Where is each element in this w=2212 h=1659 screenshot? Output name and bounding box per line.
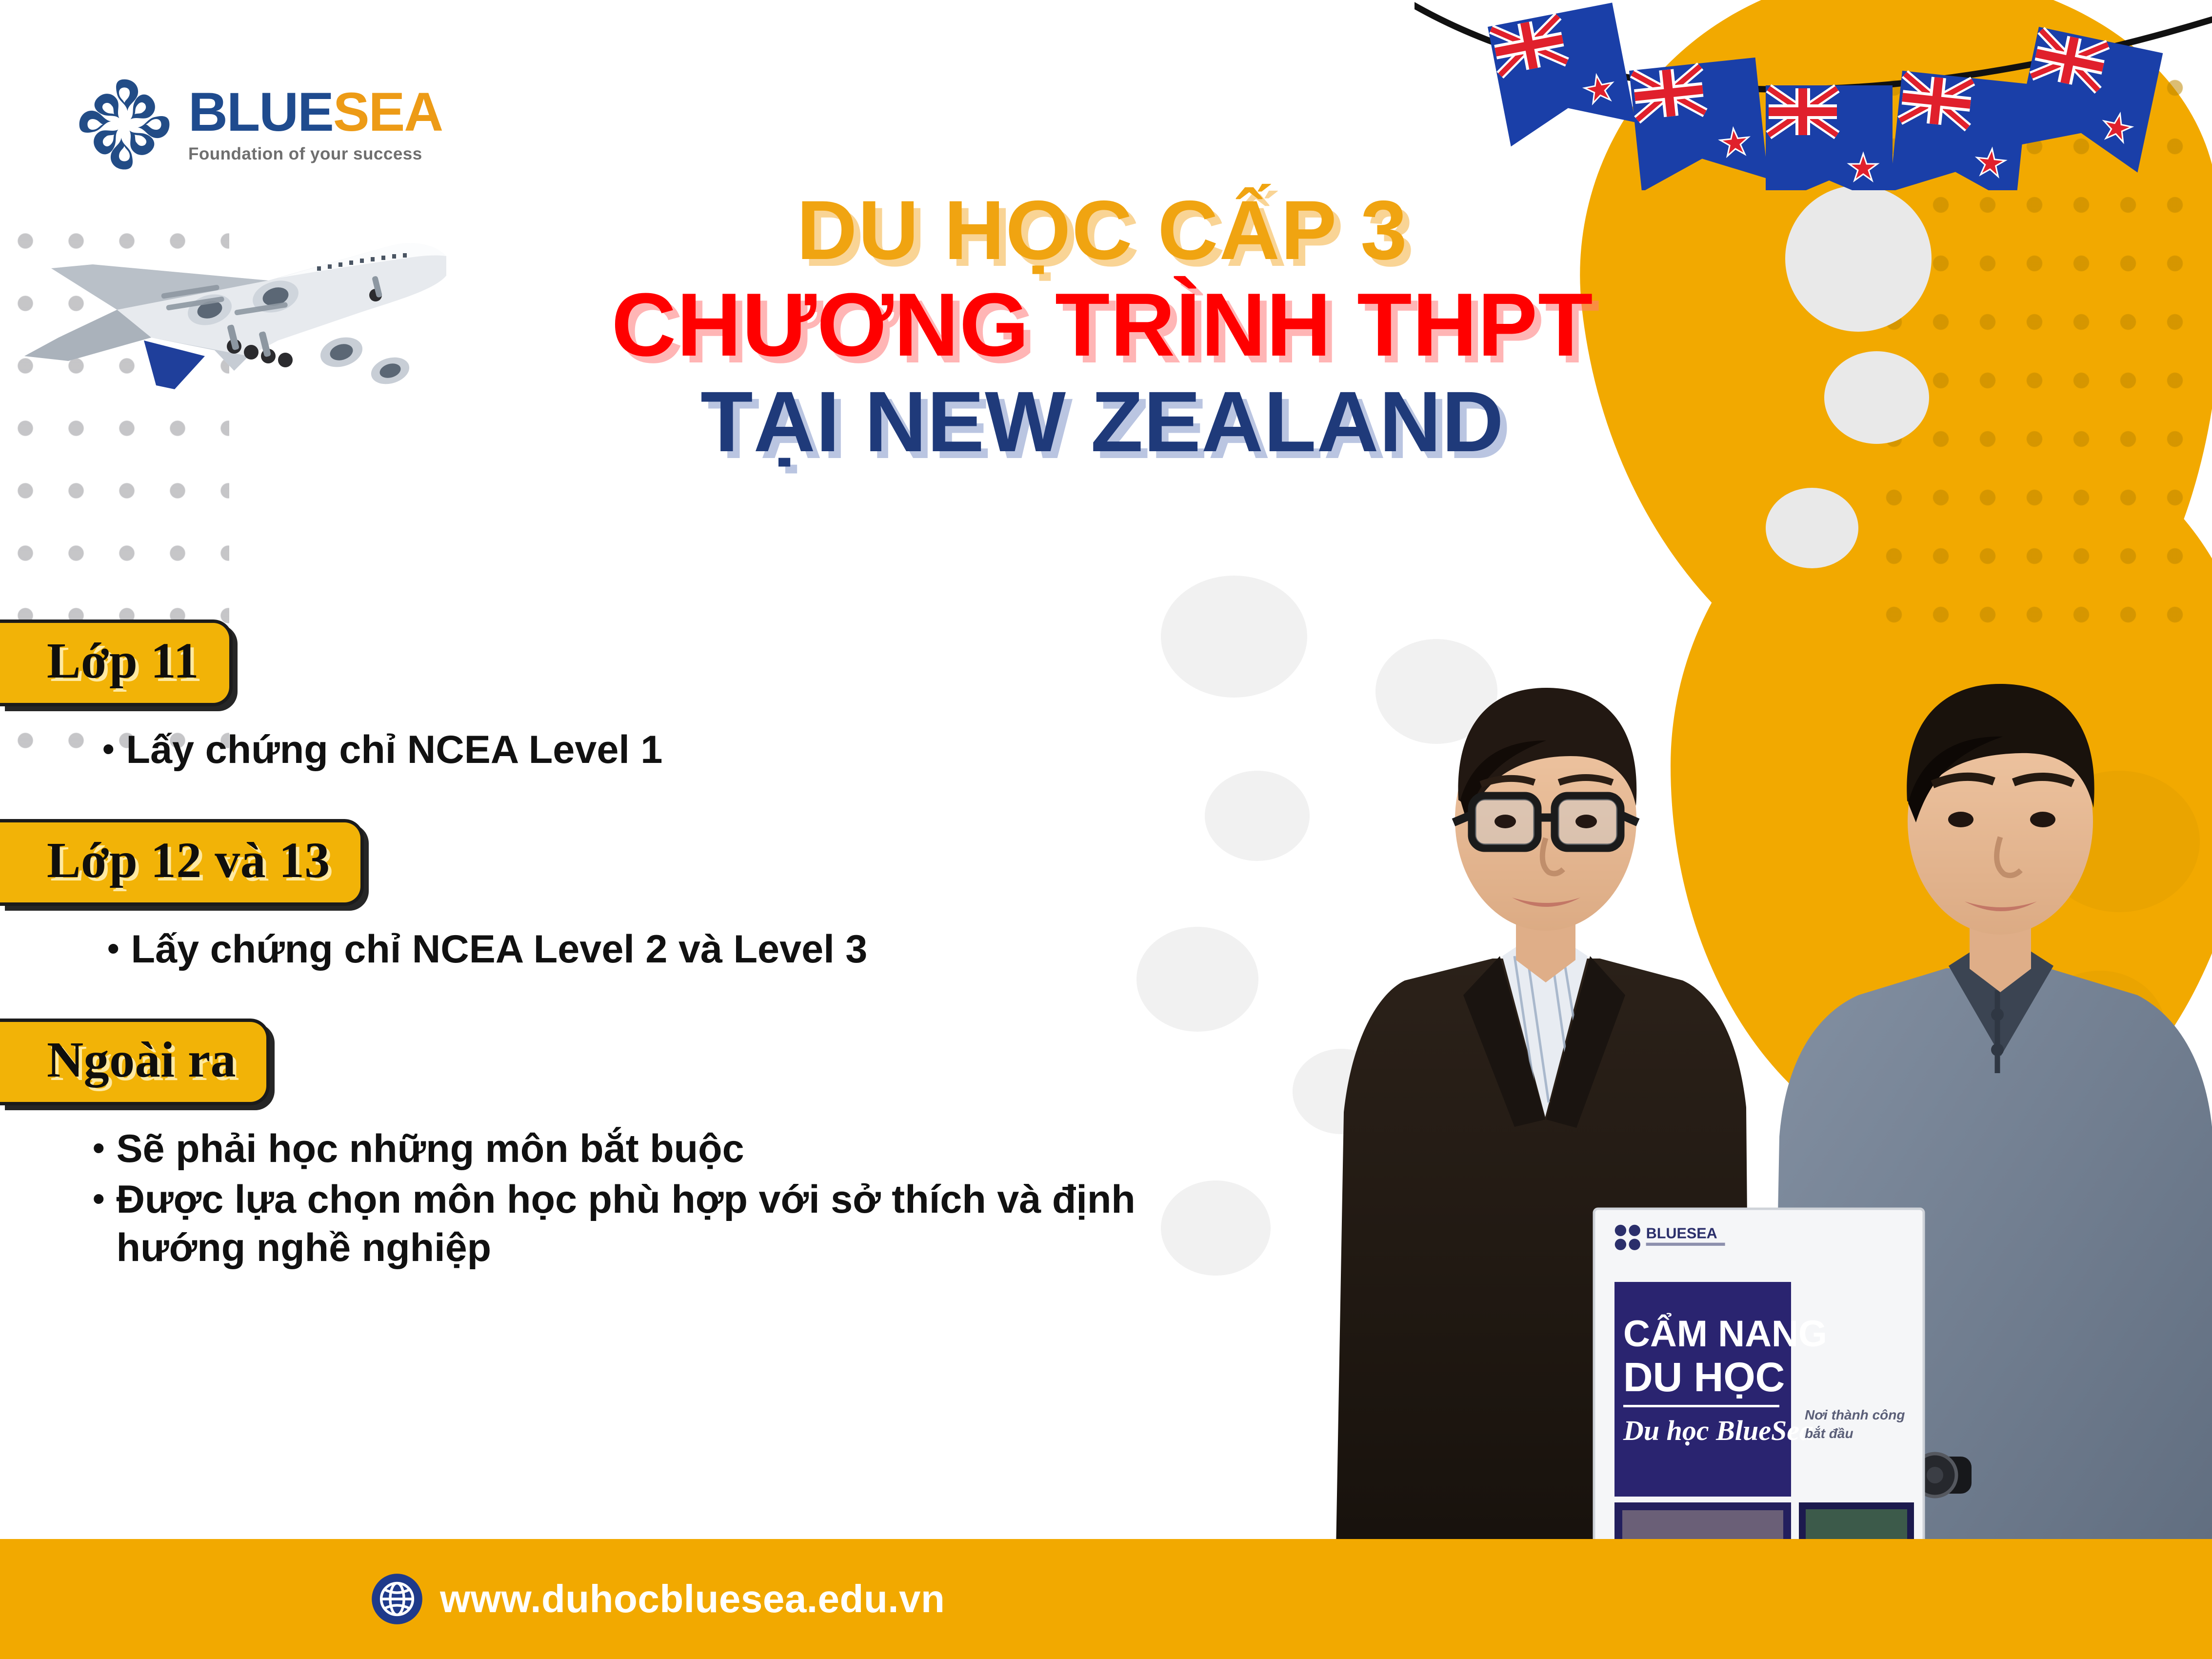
badge-label: Lớp 12 và 13: [47, 835, 330, 886]
bullet-text: Sẽ phải học những môn bắt buộc: [117, 1125, 1249, 1173]
bullet-dot-icon: •: [107, 925, 120, 972]
section-gap: [0, 777, 1249, 819]
list-item: • Lấy chứng chỉ NCEA Level 1: [102, 726, 1249, 774]
bullet-list-lop-12-13: • Lấy chứng chỉ NCEA Level 2 và Level 3: [0, 925, 1249, 974]
list-item: • Sẽ phải học những môn bắt buộc: [93, 1125, 1249, 1173]
svg-text:BLUESEA: BLUESEA: [1646, 1225, 1717, 1242]
bullet-list-lop-11: • Lấy chứng chỉ NCEA Level 1: [0, 726, 1249, 774]
bullet-text: Lấy chứng chỉ NCEA Level 1: [126, 726, 1249, 774]
section-lop-12-13: Lớp 12 và 13 • Lấy chứng chỉ NCEA Level …: [0, 819, 1249, 974]
decor-ellipse: [1785, 185, 1932, 332]
new-zealand-flag-bunting: [1415, 0, 2212, 190]
brand-logo: BLUESEA Foundation of your success: [73, 73, 442, 176]
badge-label: Ngoài ra: [47, 1035, 236, 1085]
brochure-title-line1: CẨM NANG: [1623, 1313, 1827, 1355]
section-ngoai-ra: Ngoài ra • Sẽ phải học những môn bắt buộ…: [0, 1019, 1249, 1272]
airplane-graphic: [5, 210, 463, 415]
title-line-2: CHƯƠNG TRÌNH THPT: [468, 279, 1736, 371]
brochure-title-line2: DU HỌC: [1623, 1354, 1785, 1400]
badge-lop-11: Lớp 11: [0, 620, 233, 706]
two-students-holding-brochure-illustration: BLUESEA CẨM NANG DU HỌC Du học BlueSea N…: [1229, 527, 2212, 1659]
footer-content: www.duhocbluesea.edu.vn: [371, 1573, 945, 1625]
bullet-list-ngoai-ra: • Sẽ phải học những môn bắt buộc • Được …: [0, 1125, 1249, 1272]
section-gap: [0, 977, 1249, 1019]
title-line-1: DU HỌC CẤP 3: [468, 188, 1736, 273]
logo-name-sea: SEA: [333, 85, 442, 140]
content-sections: Lớp 11 • Lấy chứng chỉ NCEA Level 1 Lớp …: [0, 620, 1249, 1275]
poster-title: DU HỌC CẤP 3 CHƯƠNG TRÌNH THPT TẠI NEW Z…: [468, 188, 1736, 466]
list-item: • Lấy chứng chỉ NCEA Level 2 và Level 3: [107, 925, 1249, 974]
bullet-dot-icon: •: [93, 1125, 105, 1171]
airplane-icon: [5, 210, 463, 415]
footer-bar: www.duhocbluesea.edu.vn: [0, 1539, 2212, 1659]
logo-wordmark: BLUESEA Foundation of your success: [188, 85, 442, 164]
bullet-text: Được lựa chọn môn học phù hợp với sở thí…: [117, 1176, 1249, 1272]
decor-ellipse: [1824, 351, 1929, 444]
bullet-text: Lấy chứng chỉ NCEA Level 2 và Level 3: [131, 925, 1249, 974]
badge-lop-12-va-13: Lớp 12 và 13: [0, 819, 364, 906]
bullet-dot-icon: •: [102, 726, 115, 772]
logo-name: BLUESEA: [188, 85, 442, 140]
globe-icon: [371, 1573, 423, 1625]
badge-label: Lớp 11: [47, 636, 199, 686]
bluesea-people-cluster-icon: [73, 73, 176, 176]
brochure-subtitle: Du học BlueSea: [1623, 1415, 1813, 1446]
website-url[interactable]: www.duhocbluesea.edu.vn: [440, 1577, 945, 1621]
bullet-dot-icon: •: [93, 1176, 105, 1222]
poster-canvas: BLUESEA Foundation of your success: [0, 0, 2212, 1659]
svg-text:bắt đầu: bắt đầu: [1805, 1426, 1853, 1441]
logo-tagline: Foundation of your success: [188, 144, 442, 164]
section-lop-11: Lớp 11 • Lấy chứng chỉ NCEA Level 1: [0, 620, 1249, 774]
logo-name-blue: BLUE: [188, 85, 333, 140]
students-photo: BLUESEA CẨM NANG DU HỌC Du học BlueSea N…: [1229, 527, 2212, 1659]
title-line-3: TẠI NEW ZEALAND: [468, 379, 1736, 466]
svg-text:Nơi thành công: Nơi thành công: [1805, 1407, 1905, 1422]
list-item: • Được lựa chọn môn học phù hợp với sở t…: [93, 1176, 1249, 1272]
badge-ngoai-ra: Ngoài ra: [0, 1019, 270, 1105]
